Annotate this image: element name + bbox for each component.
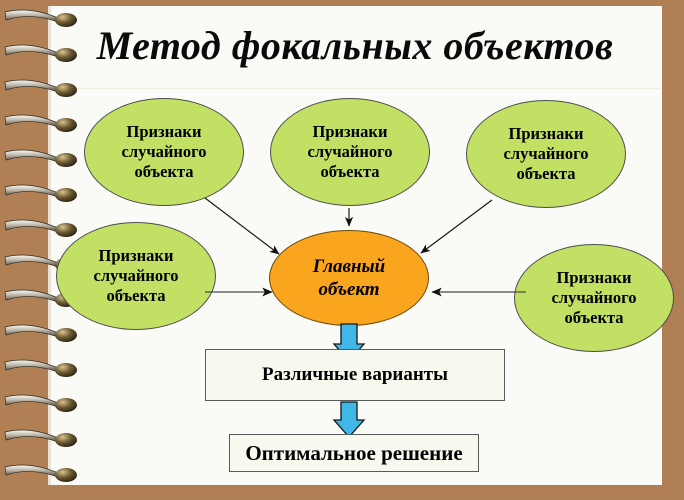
blue-arrow-variants-to-solution xyxy=(334,402,364,437)
box-various-variants[interactable]: Различные варианты xyxy=(205,349,505,401)
box-optimal-solution[interactable]: Оптимальное решение xyxy=(229,434,479,472)
box-label: Оптимальное решение xyxy=(245,441,462,466)
box-label: Различные варианты xyxy=(262,364,448,386)
flow-arrows xyxy=(0,0,684,500)
slide-canvas: Метод фокальных объектов Признаки случай… xyxy=(0,0,684,500)
